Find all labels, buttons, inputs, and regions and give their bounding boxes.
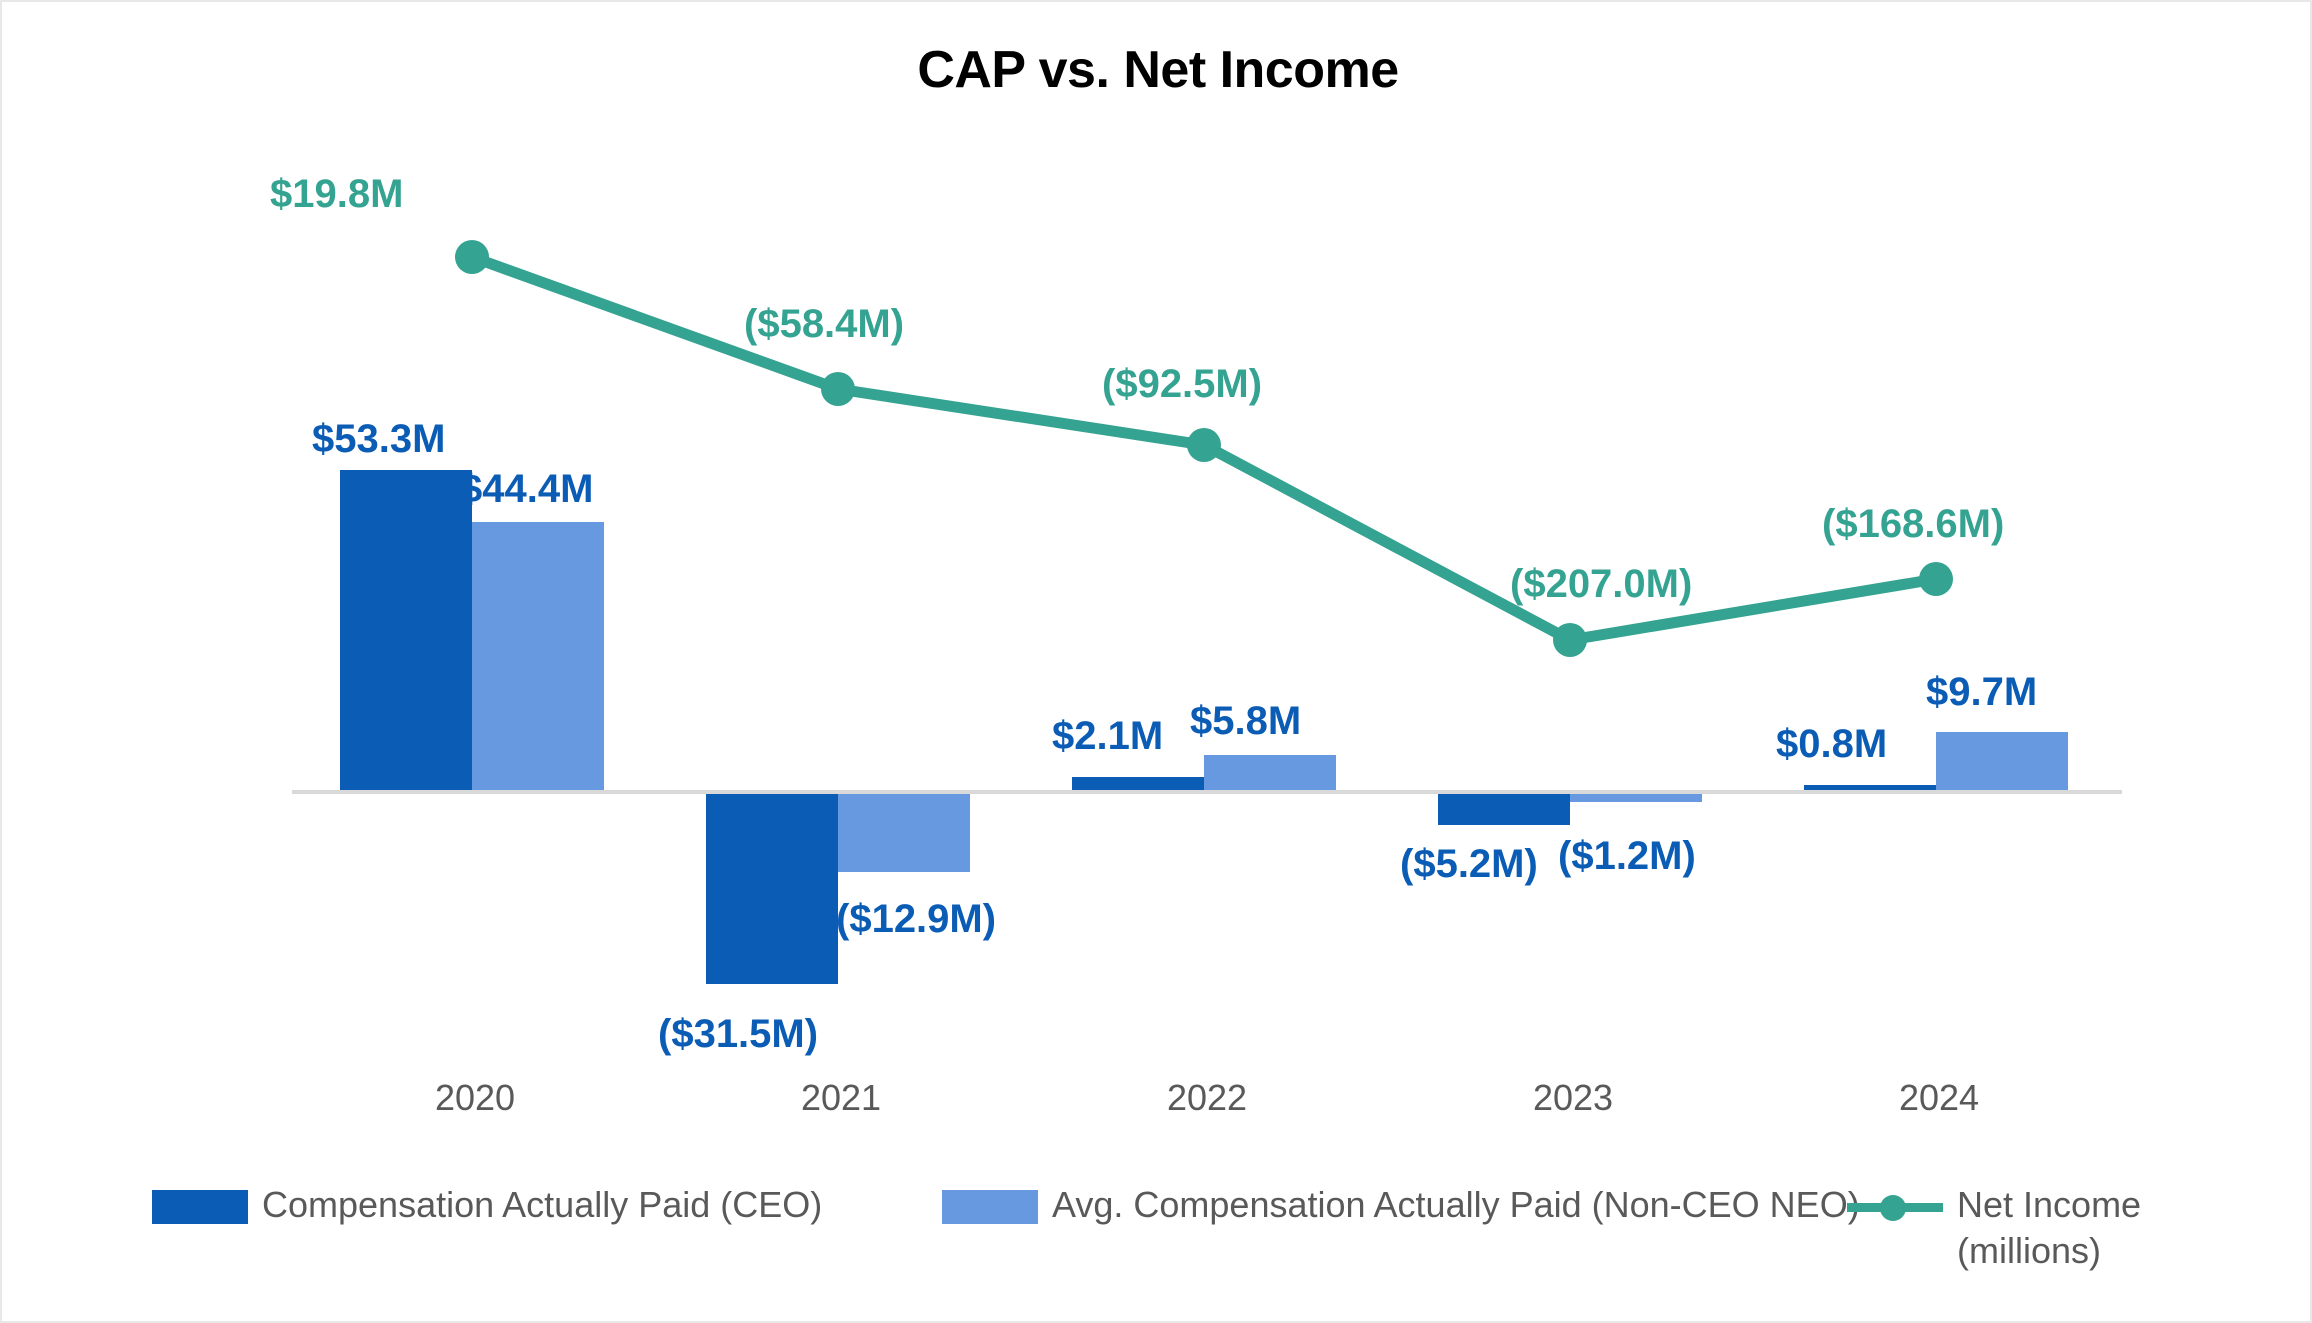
category-group-2022: $2.1M $5.8M: [1024, 122, 1390, 1042]
bar-neo-2022[interactable]: [1204, 755, 1336, 790]
legend-item-ceo[interactable]: Compensation Actually Paid (CEO): [152, 1182, 822, 1228]
bar-label-ceo-2023: ($5.2M): [1400, 842, 1538, 887]
x-tick-2021: 2021: [658, 1077, 1024, 1119]
bar-label-ceo-2022: $2.1M: [1052, 714, 1163, 759]
category-group-2020: $53.3M $44.4M: [292, 122, 658, 1042]
legend: Compensation Actually Paid (CEO) Avg. Co…: [2, 1182, 2312, 1302]
bar-label-ceo-2024: $0.8M: [1776, 722, 1887, 767]
x-tick-2020: 2020: [292, 1077, 658, 1119]
bar-ceo-2020[interactable]: [340, 470, 472, 790]
bar-ceo-2023[interactable]: [1438, 794, 1570, 825]
x-tick-2024: 2024: [1756, 1077, 2122, 1119]
legend-item-neo[interactable]: Avg. Compensation Actually Paid (Non-CEO…: [942, 1182, 1860, 1228]
bar-ceo-2021[interactable]: [706, 794, 838, 984]
bar-label-ceo-2021: ($31.5M): [658, 1012, 818, 1057]
category-group-2021: ($31.5M) ($12.9M): [658, 122, 1024, 1042]
bar-label-neo-2022: $5.8M: [1190, 699, 1301, 744]
bar-neo-2024[interactable]: [1936, 732, 2068, 790]
bar-ceo-2024[interactable]: [1804, 785, 1936, 790]
bar-label-neo-2020: $44.4M: [460, 467, 593, 512]
x-tick-2023: 2023: [1390, 1077, 1756, 1119]
plot-area: $53.3M $44.4M ($31.5M) ($12.9M) $2.1M $5…: [292, 122, 2122, 1042]
bar-label-neo-2024: $9.7M: [1926, 670, 2037, 715]
category-group-2024: $0.8M $9.7M: [1756, 122, 2122, 1042]
chart-title: CAP vs. Net Income: [2, 40, 2312, 100]
bar-label-neo-2023: ($1.2M): [1558, 834, 1696, 879]
category-group-2023: ($5.2M) ($1.2M): [1390, 122, 1756, 1042]
legend-swatch-neo-icon: [942, 1190, 1038, 1224]
legend-label-net-income: Net Income (millions): [1957, 1182, 2141, 1274]
bar-neo-2021[interactable]: [838, 794, 970, 872]
bar-ceo-2022[interactable]: [1072, 777, 1204, 790]
bar-label-ceo-2020: $53.3M: [312, 417, 445, 462]
legend-label-neo: Avg. Compensation Actually Paid (Non-CEO…: [1052, 1182, 1860, 1228]
x-axis: 2020 2021 2022 2023 2024: [292, 1077, 2122, 1137]
chart-container: CAP vs. Net Income $53.3M $44.4M ($31.5M…: [0, 0, 2312, 1323]
legend-label-ceo: Compensation Actually Paid (CEO): [262, 1182, 822, 1228]
bar-neo-2023[interactable]: [1570, 794, 1702, 802]
x-tick-2022: 2022: [1024, 1077, 1390, 1119]
legend-item-net-income[interactable]: Net Income (millions): [1847, 1182, 2141, 1274]
legend-swatch-ceo-icon: [152, 1190, 248, 1224]
bar-label-neo-2021: ($12.9M): [836, 897, 996, 942]
legend-line-dot-icon: [1847, 1190, 1943, 1224]
bar-neo-2020[interactable]: [472, 522, 604, 790]
